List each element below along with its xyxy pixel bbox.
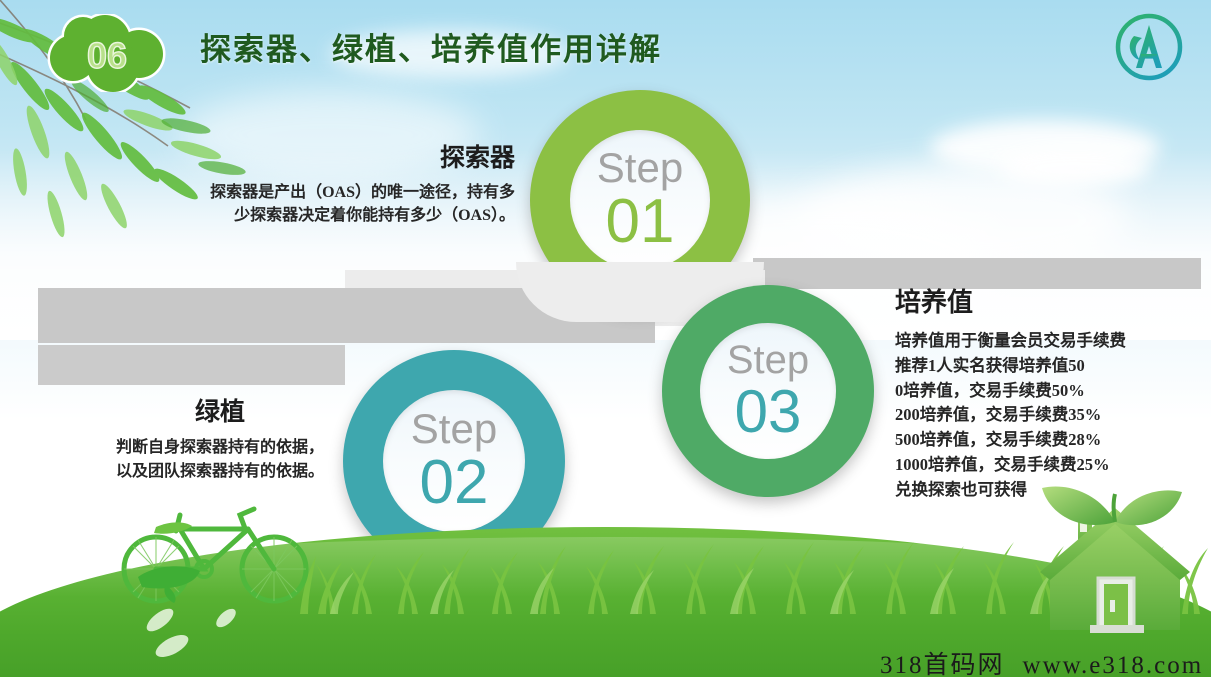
body-line: 500培养值，交易手续费28% — [895, 428, 1195, 453]
text-block-greenplant: 绿植 判断自身探索器持有的依据， 以及团队探索器持有的依据。 — [70, 392, 370, 484]
decorative-bar-bottom — [38, 345, 345, 385]
body-line: 探索器是产出（OAS）的唯一途径，持有多 — [155, 182, 515, 205]
body-line: 200培养值，交易手续费35% — [895, 403, 1195, 428]
watermark-site: 318首码网 — [880, 652, 1005, 677]
step-inner-03: Step 03 — [700, 323, 836, 459]
text-block-cultivation: 培养值 培养值用于衡量会员交易手续费 推荐1人实名获得培养值50 0培养值，交易… — [895, 282, 1195, 502]
heading-explorer: 探索器 — [155, 138, 515, 174]
body-explorer: 探索器是产出（OAS）的唯一途径，持有多 少探索器决定着你能持有多少（OAS）。 — [155, 182, 515, 227]
section-number-text: 06 — [87, 35, 127, 76]
body-line: 以及团队探索器持有的依据。 — [70, 460, 370, 484]
hill-sheen — [0, 537, 1211, 597]
body-line: 培养值用于衡量会员交易手续费 — [895, 329, 1195, 354]
step-number-03: 03 — [735, 382, 802, 442]
body-cultivation: 培养值用于衡量会员交易手续费 推荐1人实名获得培养值50 0培养值，交易手续费5… — [895, 329, 1195, 502]
body-line: 判断自身探索器持有的依据， — [70, 436, 370, 460]
page-title: 探索器、绿植、培养值作用详解 — [200, 24, 662, 69]
section-number-badge: 06 — [43, 14, 175, 92]
step-inner-01: Step 01 — [570, 130, 710, 270]
step-number-02: 02 — [420, 452, 489, 514]
heading-cultivation: 培养值 — [895, 282, 1195, 319]
body-line: 推荐1人实名获得培养值50 — [895, 354, 1195, 379]
body-line: 0培养值，交易手续费50% — [895, 379, 1195, 404]
step-inner-02: Step 02 — [383, 390, 525, 532]
body-line: 少探索器决定着你能持有多少（OAS）。 — [155, 205, 515, 228]
body-greenplant: 判断自身探索器持有的依据， 以及团队探索器持有的依据。 — [70, 436, 370, 484]
body-line: 兑换探索也可获得 — [895, 478, 1195, 503]
step-label-01: Step — [597, 147, 683, 189]
watermark-url: www.e318.com — [1023, 652, 1204, 677]
text-block-explorer: 探索器 探索器是产出（OAS）的唯一途径，持有多 少探索器决定着你能持有多少（O… — [155, 138, 515, 227]
step-number-01: 01 — [606, 191, 675, 253]
body-line: 1000培养值，交易手续费25% — [895, 453, 1195, 478]
slide-canvas: 06 06 探索器、绿植、培养值作用详解 Step — [0, 0, 1211, 677]
step-label-02: Step — [411, 408, 497, 450]
watermark: 318首码网www.e318.com — [880, 645, 1203, 677]
step-label-03: Step — [727, 340, 809, 380]
step-circle-03[interactable]: Step 03 — [662, 285, 874, 497]
heading-greenplant: 绿植 — [70, 392, 370, 428]
brand-logo-icon — [1112, 10, 1186, 84]
